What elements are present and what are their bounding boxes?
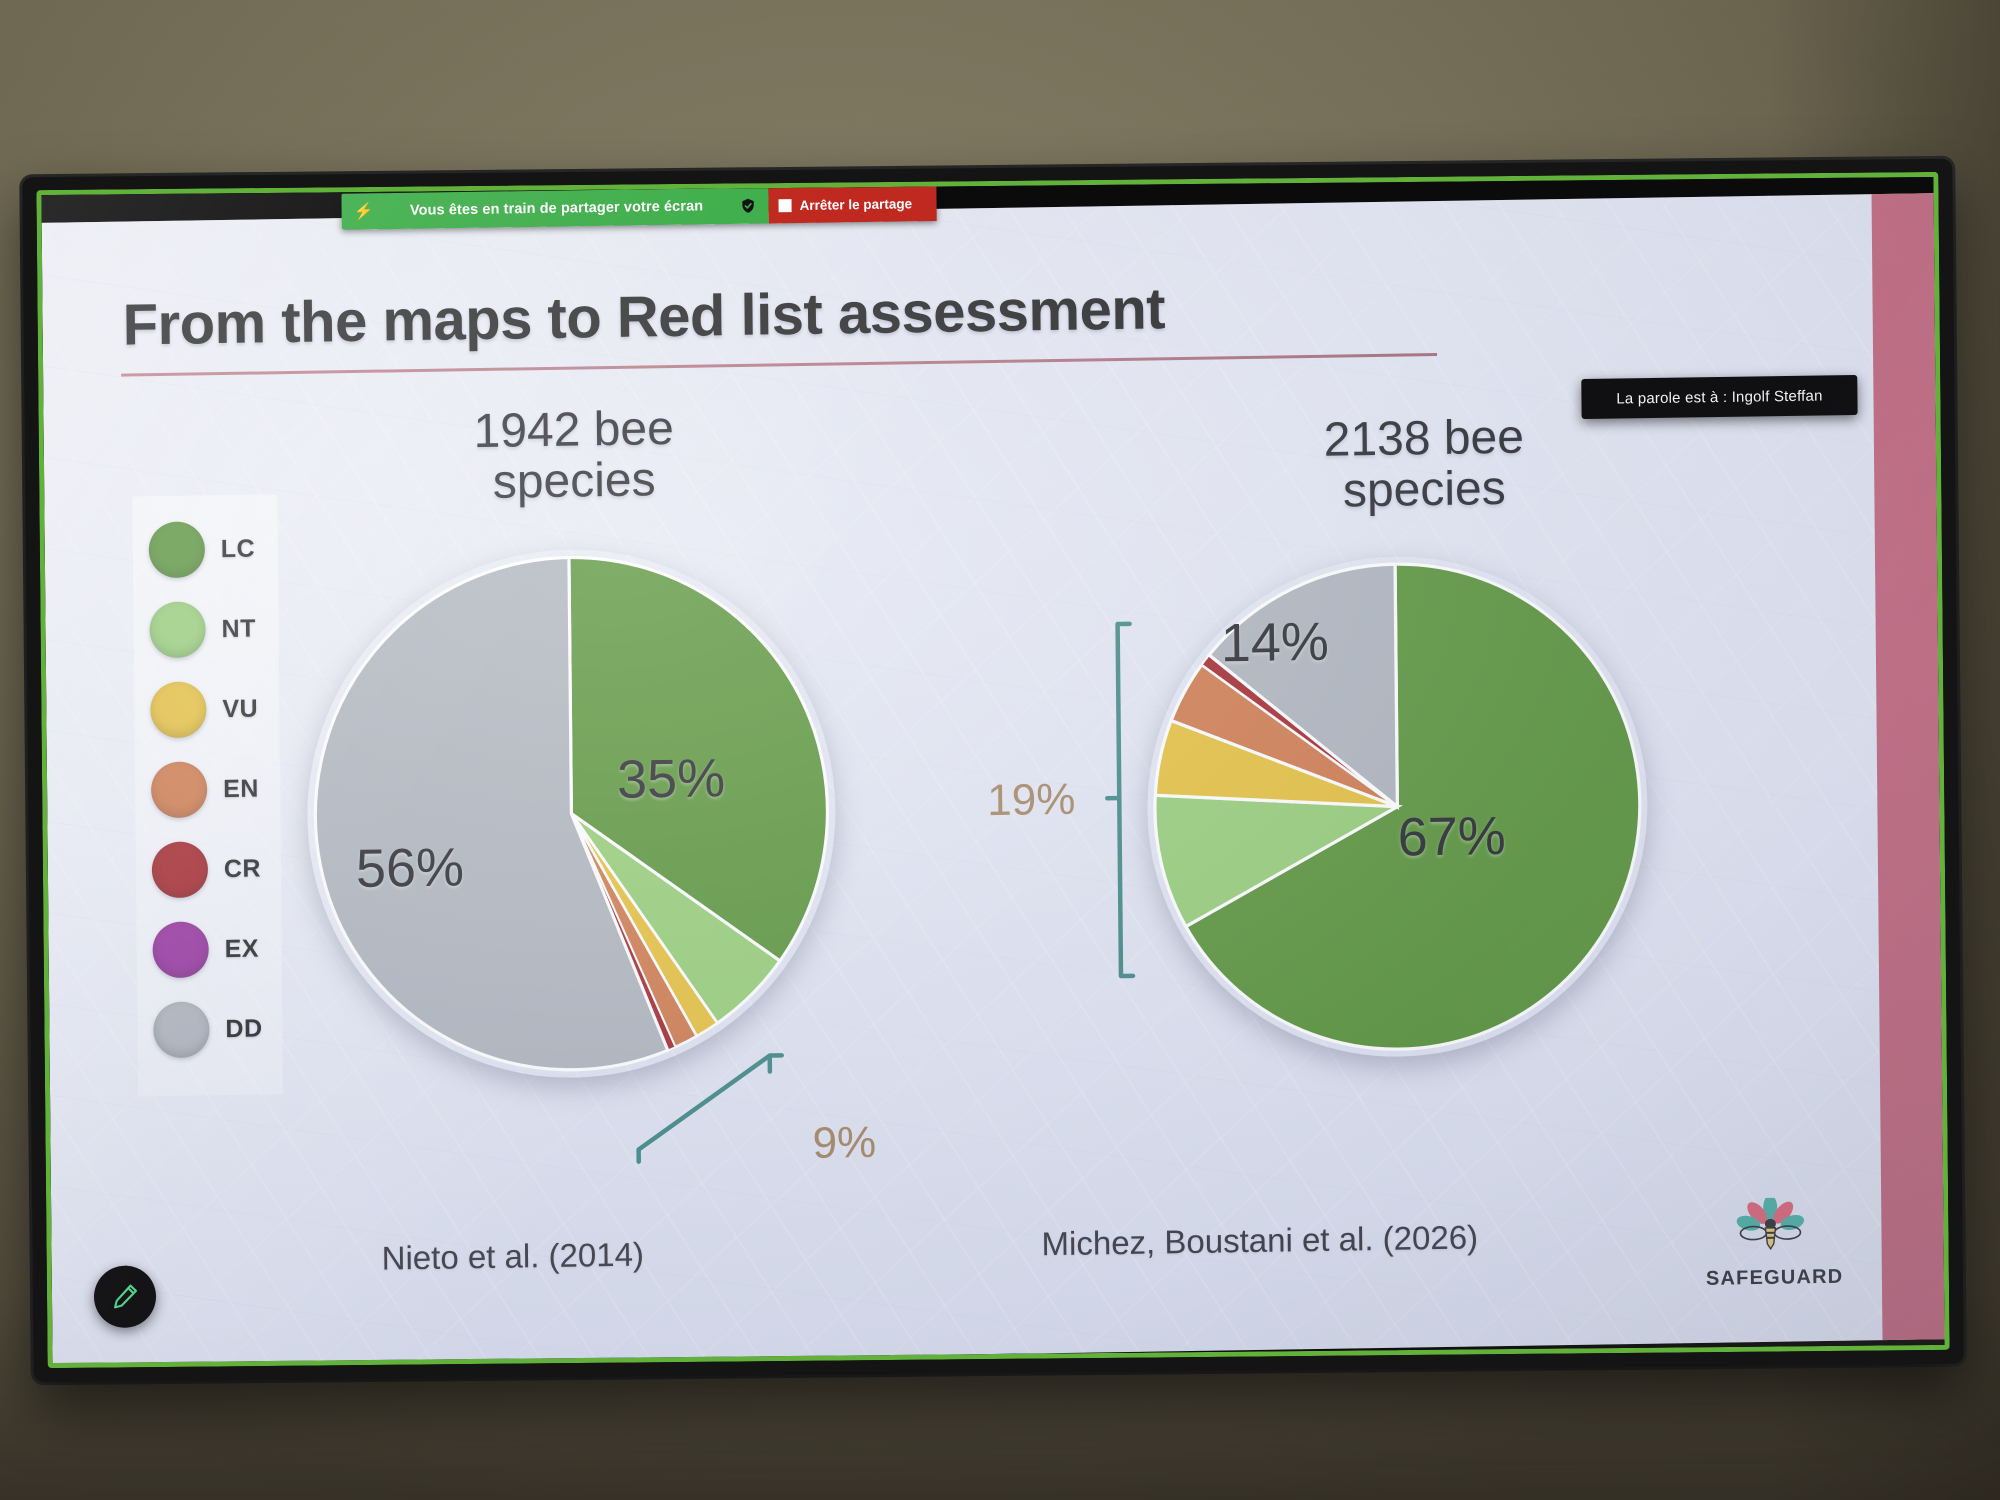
legend-label-ex: EX [225, 934, 260, 964]
legend-swatch-vu [150, 681, 207, 738]
left-pie-title-line2: species [354, 452, 794, 510]
shield-check-icon[interactable] [739, 197, 756, 215]
title-underline [121, 353, 1437, 377]
stop-sharing-label: Arrêter le partage [799, 196, 912, 213]
room-wall: From the maps to Red list assessment LC … [0, 0, 2000, 1500]
left-pie-bracket [630, 1041, 801, 1174]
left-pie-label-dd: 56% [356, 836, 465, 900]
legend-item-nt[interactable]: NT [133, 588, 279, 670]
legend-swatch-en [151, 761, 208, 818]
legend-swatch-nt [149, 601, 206, 658]
page-title: From the maps to Red list assessment [122, 271, 1443, 359]
active-speaker-toast: La parole est à : Ingolf Steffan [1581, 375, 1857, 419]
sharing-status-text: Vous êtes en train de partager votre écr… [385, 198, 727, 219]
legend-label-cr: CR [224, 854, 261, 884]
legend-label-en: EN [223, 774, 259, 804]
pen-icon [110, 1281, 140, 1311]
legend-swatch-ex [152, 921, 209, 978]
television-bezel: From the maps to Red list assessment LC … [22, 159, 1963, 1382]
left-pie-graphic [305, 545, 838, 1081]
legend-label-vu: VU [222, 694, 258, 724]
legend-swatch-dd [153, 1001, 210, 1058]
stop-square-icon [779, 199, 792, 212]
safeguard-wordmark: SAFEGUARD [1706, 1266, 1836, 1291]
right-pie-title-line1: 2138 bee [1204, 410, 1644, 468]
legend-label-nt: NT [221, 614, 256, 644]
legend-item-en[interactable]: EN [135, 748, 281, 830]
safeguard-logo: SAFEGUARD [1705, 1197, 1836, 1291]
legend-label-lc: LC [221, 534, 256, 564]
right-pie-bracket-label: 19% [987, 775, 1076, 826]
stop-sharing-button[interactable]: Arrêter le partage [768, 185, 936, 223]
left-pie-bracket-label: 9% [812, 1118, 876, 1169]
sharing-status-bar: ⚡ Vous êtes en train de partager votre é… [341, 187, 768, 229]
legend-item-vu[interactable]: VU [134, 668, 280, 750]
right-pie-bracket [1084, 618, 1148, 989]
annotate-pen-button[interactable] [94, 1265, 157, 1328]
legend-item-ex[interactable]: EX [136, 908, 282, 990]
active-speaker-text: La parole est à : Ingolf Steffan [1616, 387, 1822, 407]
right-pie-label-dd: 14% [1220, 611, 1329, 675]
legend-swatch-cr [152, 841, 209, 898]
right-pie-title-line2: species [1204, 461, 1644, 519]
legend-item-cr[interactable]: CR [136, 828, 282, 910]
safeguard-bee-flower-icon [1734, 1197, 1807, 1260]
left-pie-title-line1: 1942 bee [353, 401, 793, 459]
left-pie-svg [305, 545, 838, 1081]
right-pie-citation: Michez, Boustani et al. (2026) [1041, 1218, 1478, 1263]
presentation-slide: From the maps to Red list assessment LC … [42, 193, 1945, 1363]
television-screen: From the maps to Red list assessment LC … [36, 172, 1949, 1368]
left-pie-title: 1942 bee species [353, 401, 794, 511]
zoom-bolt-icon: ⚡ [354, 201, 374, 221]
legend-item-dd[interactable]: DD [137, 988, 283, 1070]
left-pie-chart: 1942 bee species [293, 400, 862, 1309]
left-pie-citation: Nieto et al. (2014) [381, 1236, 644, 1278]
left-pie-label-lc: 35% [617, 747, 726, 811]
slide-accent-band [1872, 193, 1945, 1340]
right-pie-title: 2138 bee species [1204, 410, 1645, 520]
right-pie-chart: 2138 bee species [1003, 388, 1652, 1298]
red-list-legend: LC NT VU EN [132, 494, 283, 1096]
legend-label-dd: DD [225, 1014, 262, 1044]
shared-screen: From the maps to Red list assessment LC … [41, 177, 1944, 1363]
right-pie-label-lc: 67% [1397, 805, 1506, 869]
legend-swatch-lc [149, 521, 206, 578]
legend-item-lc[interactable]: LC [132, 508, 278, 590]
